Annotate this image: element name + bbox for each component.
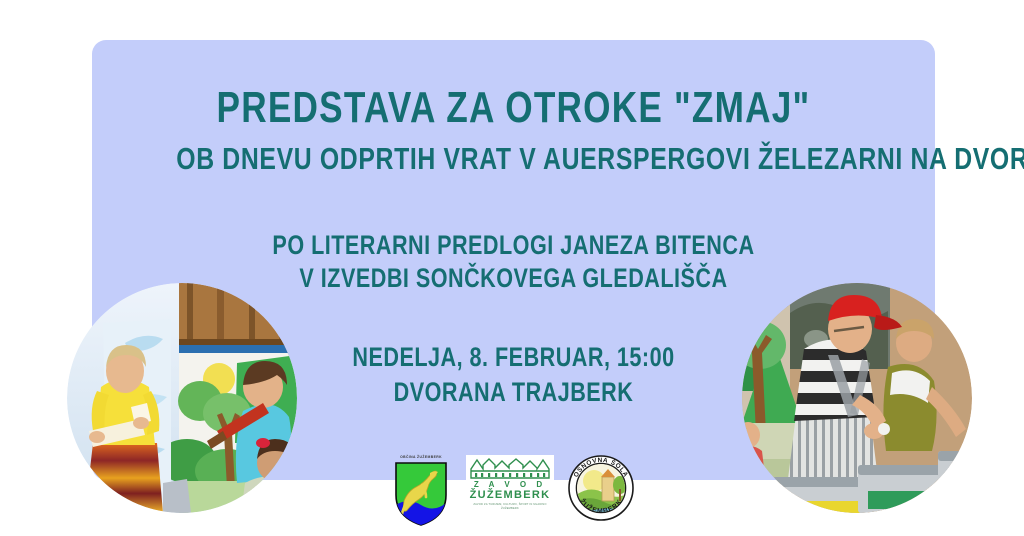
logo-zavod-zuzemberk: Z A V O D ŽUŽEMBERK ZAVOD ZA TURIZEM, KU…	[466, 455, 554, 513]
obcina-shield-icon	[390, 455, 452, 527]
logo-row: OBČINA ŽUŽEMBERK	[0, 455, 1024, 531]
logo-obcina-zuzemberk: OBČINA ŽUŽEMBERK	[390, 455, 452, 527]
school-seal-icon: OSNOVNA ŠOLA ŽUŽEMBERK	[568, 455, 634, 521]
logo-zavod-line2: ŽUŽEMBERK	[470, 489, 551, 501]
logo-zavod-line1: Z A V O D	[474, 480, 546, 489]
logo-zavod-line3: ZAVOD ZA TURIZEM, KULTURO, ŠPORT IN MLAD…	[466, 503, 554, 511]
logo-osnovna-sola-zuzemberk: OSNOVNA ŠOLA ŽUŽEMBERK	[568, 455, 634, 521]
castle-outline-icon	[469, 457, 551, 479]
logo-obcina-caption: OBČINA ŽUŽEMBERK	[390, 455, 452, 459]
